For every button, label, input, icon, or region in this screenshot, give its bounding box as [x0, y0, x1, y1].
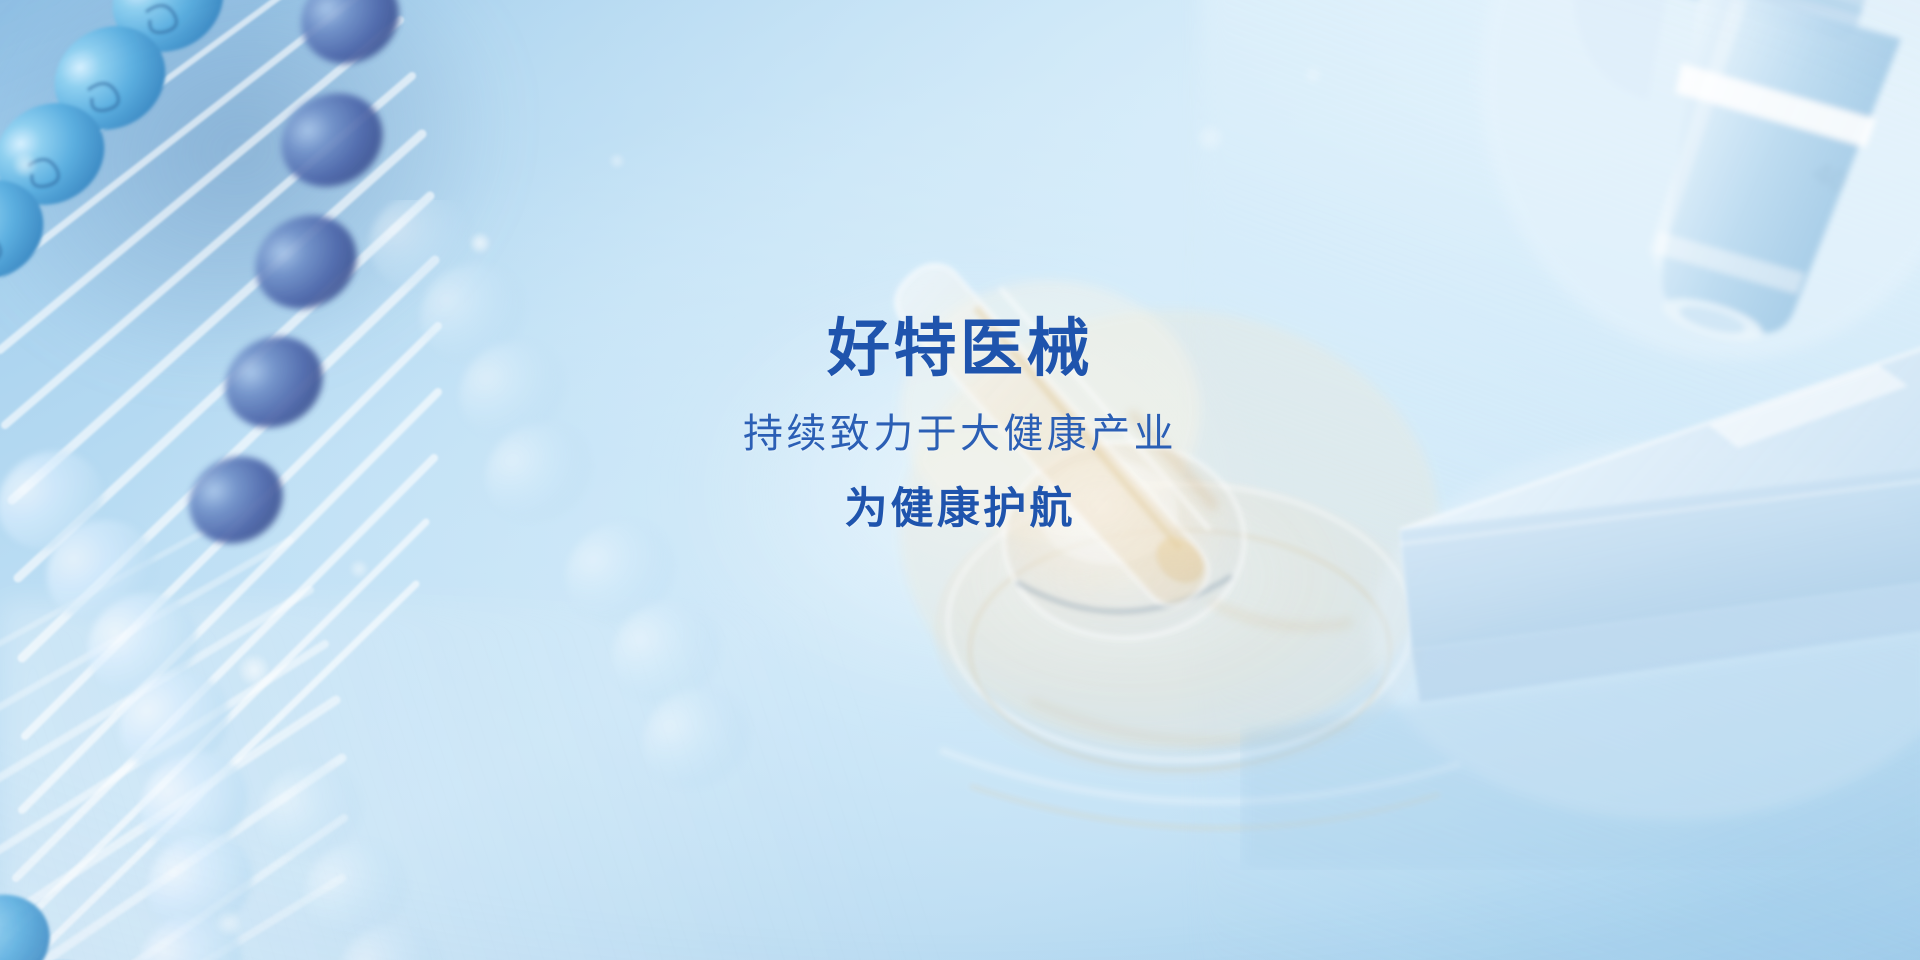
hero-copy-block: 好特医械 持续致力于大健康产业 为健康护航: [0, 0, 1920, 960]
hero-banner: 40: [0, 0, 1920, 960]
page-title: 好特医械: [827, 315, 1093, 383]
hero-subtitle: 持续致力于大健康产业: [743, 410, 1177, 458]
hero-tagline: 为健康护航: [844, 484, 1075, 536]
